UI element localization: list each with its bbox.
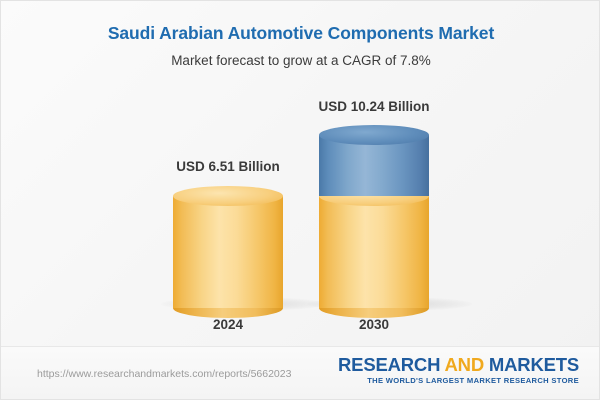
logo-word-research: RESEARCH (338, 354, 444, 375)
bar-category-label-2030: 2030 (279, 317, 469, 332)
market-forecast-infographic: Saudi Arabian Automotive Components Mark… (0, 0, 600, 400)
cylinder-body-2024 (173, 196, 283, 308)
research-and-markets-logo[interactable]: RESEARCH AND MARKETS THE WORLD'S LARGEST… (338, 355, 579, 385)
logo-word-and: AND (445, 354, 484, 375)
cylinder-top-cap-2024 (173, 186, 283, 206)
footer: https://www.researchandmarkets.com/repor… (1, 346, 600, 399)
logo-tagline: THE WORLD'S LARGEST MARKET RESEARCH STOR… (338, 376, 579, 385)
logo-wordmark: RESEARCH AND MARKETS (338, 355, 579, 374)
cylinder-top-cap-2030 (319, 125, 429, 145)
bar-value-label-2024: USD 6.51 Billion (133, 159, 323, 174)
source-url[interactable]: https://www.researchandmarkets.com/repor… (37, 368, 291, 380)
logo-word-markets: MARKETS (484, 354, 579, 375)
cylinder-segment-base-2030 (319, 196, 429, 308)
chart-plot-area: USD 6.51 Billion 2024 USD 10.24 Billion … (1, 1, 600, 346)
bar-value-label-2030: USD 10.24 Billion (279, 99, 469, 114)
